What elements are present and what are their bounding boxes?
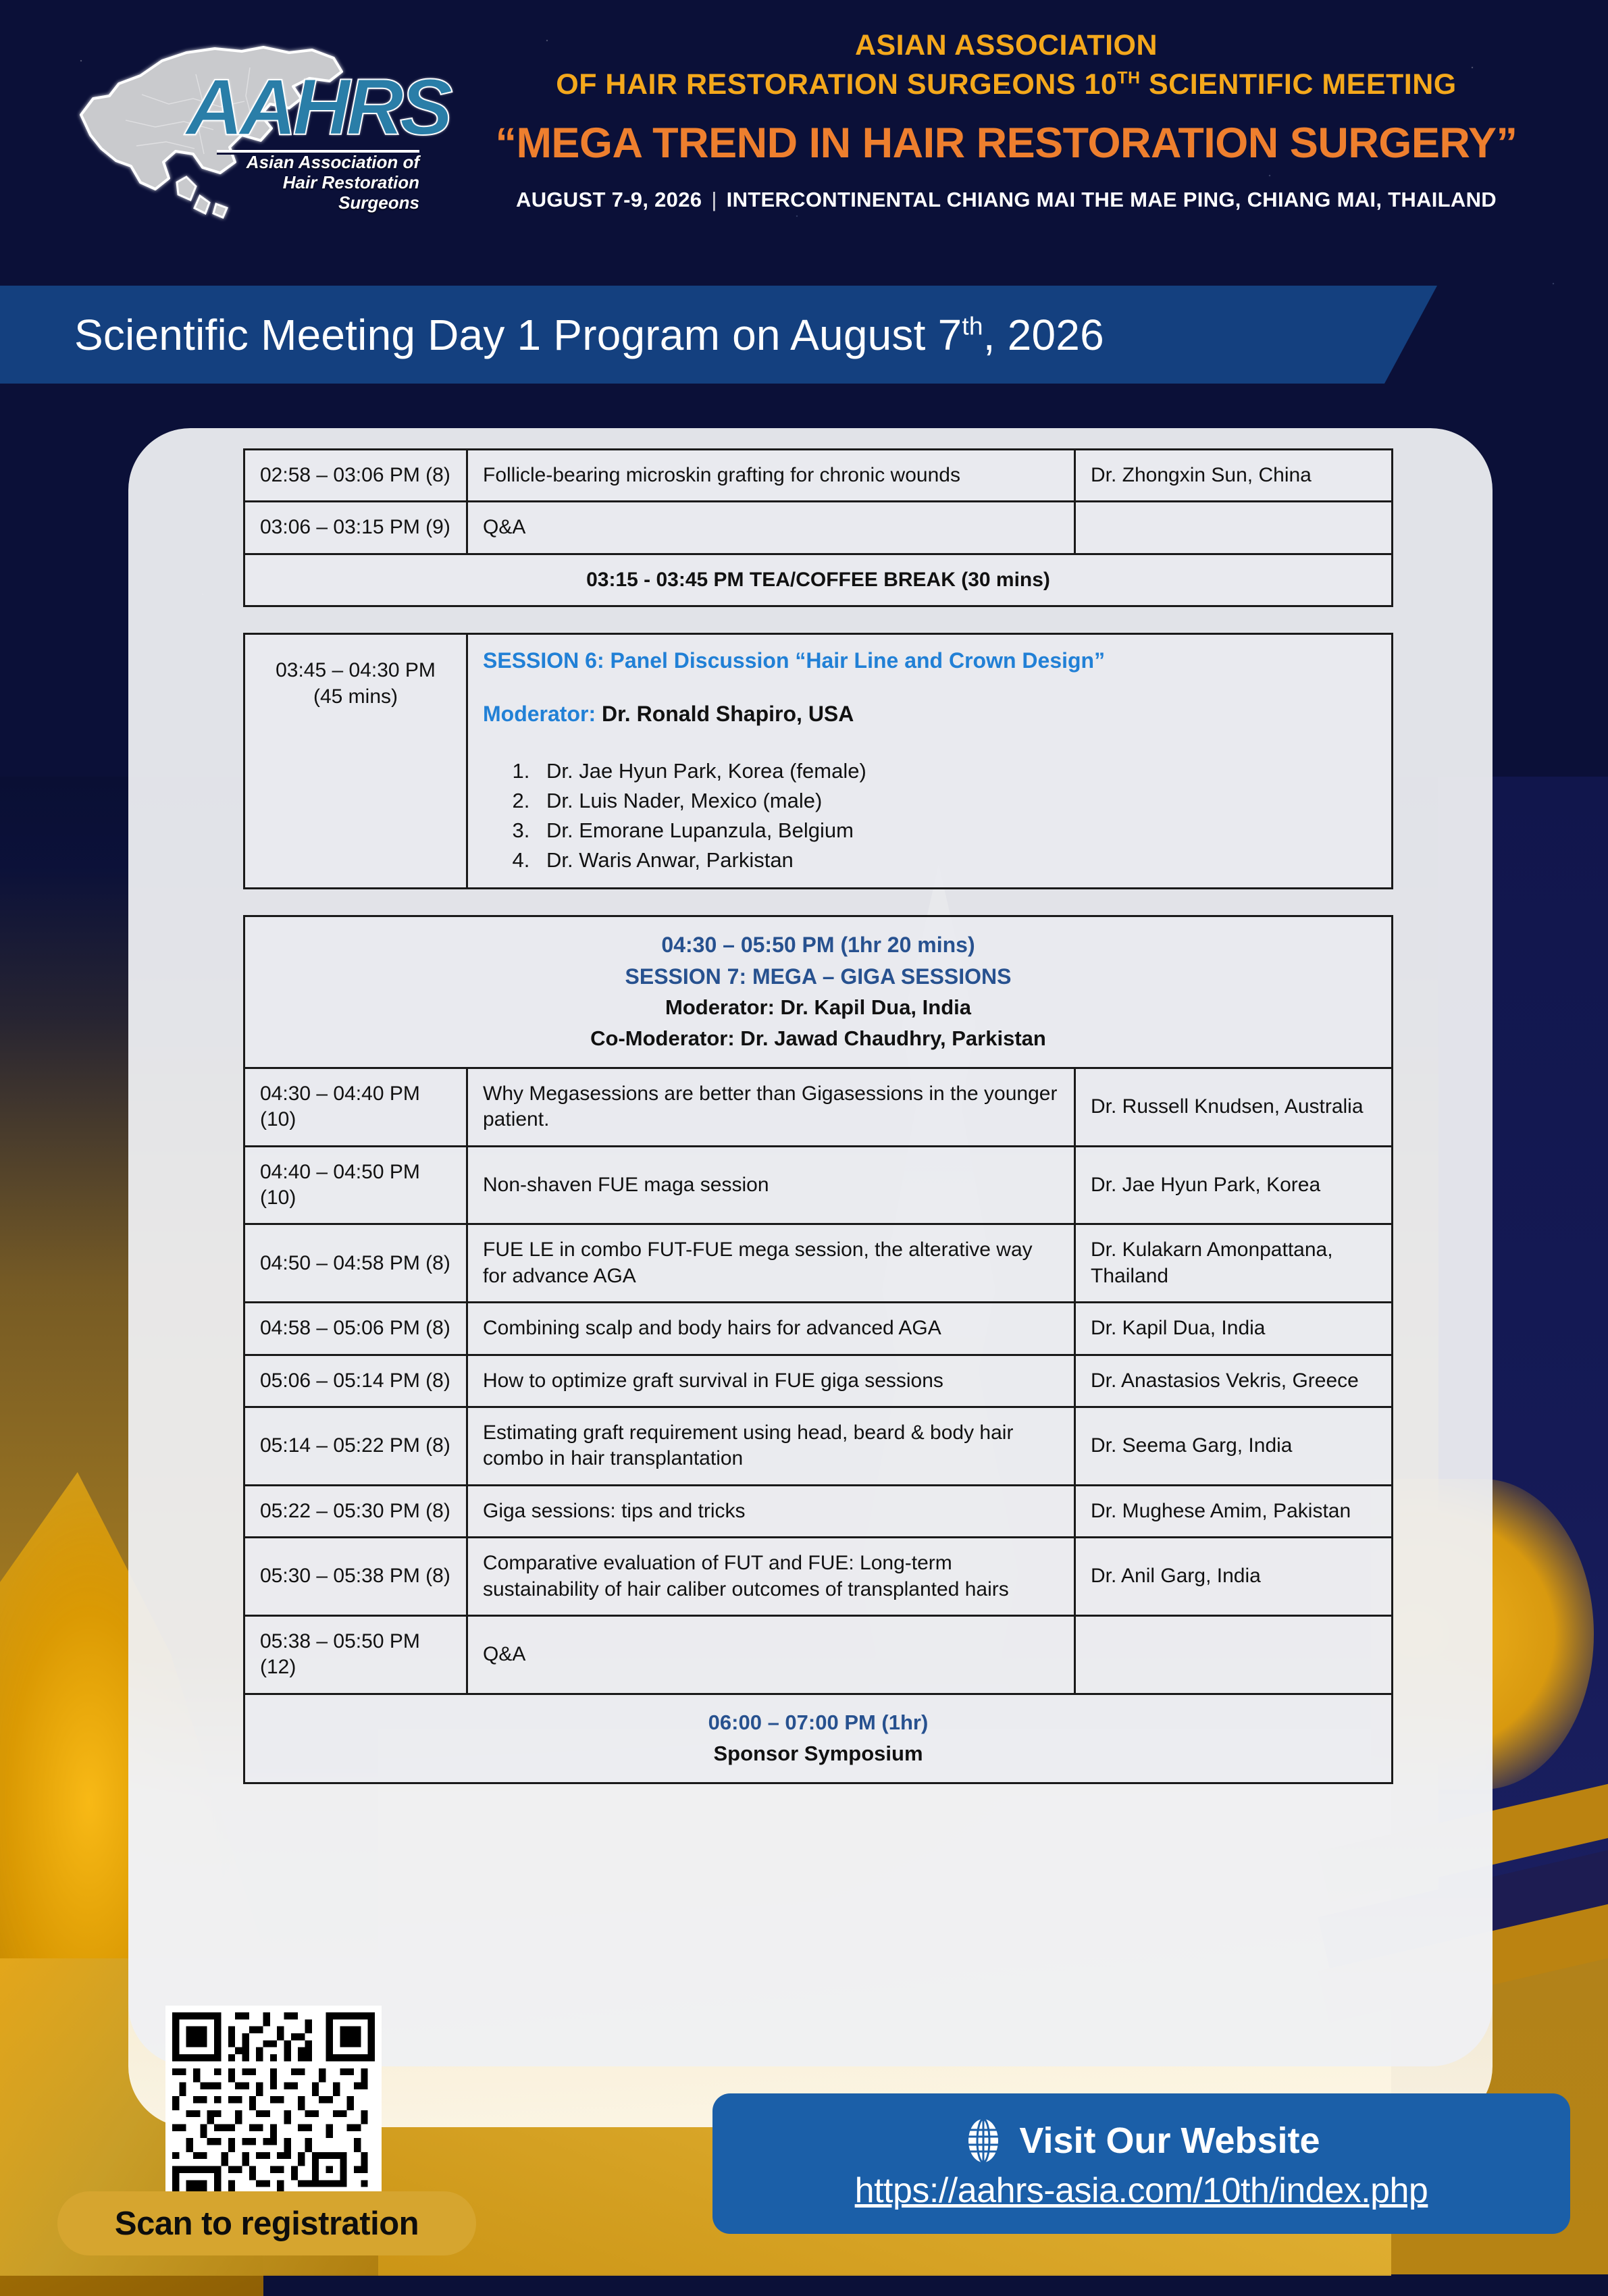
aahrs-logo: AAHRS Asian Association of Hair Restorat… — [47, 27, 425, 230]
table-row: 04:30 – 04:40 PM (10) Why Megasessions a… — [244, 1068, 1393, 1146]
scan-to-registration-button[interactable]: Scan to registration — [57, 2191, 476, 2255]
logo-subtitle-line2: Hair Restoration Surgeons — [217, 173, 419, 213]
row-time: 03:06 – 03:15 PM (9) — [244, 502, 467, 554]
table-row: 03:06 – 03:15 PM (9) Q&A — [244, 502, 1393, 554]
sponsor-name: Sponsor Symposium — [260, 1738, 1376, 1770]
session7-time: 04:30 – 05:50 PM (1hr 20 mins) — [260, 929, 1376, 960]
row-topic: Comparative evaluation of FUT and FUE: L… — [467, 1538, 1075, 1616]
row-topic: FUE LE in combo FUT-FUE mega session, th… — [467, 1224, 1075, 1303]
session6-title: SESSION 6: Panel Discussion “Hair Line a… — [483, 647, 1376, 675]
scan-to-registration-label: Scan to registration — [115, 2205, 419, 2243]
table-row: 04:40 – 04:50 PM (10) Non-shaven FUE mag… — [244, 1146, 1393, 1224]
banner-title-b: , 2026 — [983, 311, 1104, 359]
poster-header: AAHRS Asian Association of Hair Restorat… — [0, 0, 1608, 249]
session6-moderator-label: Moderator: — [483, 702, 596, 726]
table-row: 05:30 – 05:38 PM (8) Comparative evaluat… — [244, 1538, 1393, 1616]
row-speaker: Dr. Anastasios Vekris, Greece — [1075, 1355, 1393, 1407]
aahrs-wordmark-text: AAHRS — [186, 68, 422, 147]
row-topic: Q&A — [467, 1616, 1075, 1694]
day-program-banner: Scientific Meeting Day 1 Program on Augu… — [0, 286, 1437, 384]
session6-content: SESSION 6: Panel Discussion “Hair Line a… — [467, 634, 1393, 889]
row-time: 04:58 – 05:06 PM (8) — [244, 1303, 467, 1355]
session7-co-moderator: Co-Moderator: Dr. Jawad Chaudhry, Parkis… — [260, 1023, 1376, 1055]
banner-title-a: Scientific Meeting Day 1 Program on Augu… — [74, 311, 962, 359]
association-line-2-a: OF HAIR RESTORATION SURGEONS 10 — [556, 68, 1117, 101]
globe-icon — [962, 2116, 1004, 2165]
row-speaker — [1075, 1616, 1393, 1694]
visit-website-label: Visit Our Website — [1019, 2120, 1320, 2162]
row-time: 04:40 – 04:50 PM (10) — [244, 1146, 467, 1224]
session7-name: SESSION 7: MEGA – GIGA SESSIONS — [260, 961, 1376, 992]
session6-time-line1: 03:45 – 04:30 PM — [260, 658, 451, 683]
program-table-session7: 04:30 – 05:50 PM (1hr 20 mins) SESSION 7… — [243, 915, 1393, 1784]
sponsor-symposium: 06:00 – 07:00 PM (1hr) Sponsor Symposium — [244, 1694, 1393, 1783]
row-time: 04:30 – 04:40 PM (10) — [244, 1068, 467, 1146]
row-speaker: Dr. Anil Garg, India — [1075, 1538, 1393, 1616]
visit-website-box[interactable]: Visit Our Website https://aahrs-asia.com… — [712, 2093, 1570, 2234]
meeting-venue: INTERCONTINENTAL CHIANG MAI THE MAE PING… — [727, 188, 1497, 211]
table-row: 05:22 – 05:30 PM (8) Giga sessions: tips… — [244, 1485, 1393, 1537]
session6-moderator-name: Dr. Ronald Shapiro, USA — [602, 702, 854, 726]
row-speaker — [1075, 502, 1393, 554]
session6-row: 03:45 – 04:30 PM (45 mins) SESSION 6: Pa… — [244, 634, 1393, 889]
row-time: 04:50 – 04:58 PM (8) — [244, 1224, 467, 1303]
website-url-link[interactable]: https://aahrs-asia.com/10th/index.php — [855, 2170, 1428, 2211]
table-row: 05:06 – 05:14 PM (8) How to optimize gra… — [244, 1355, 1393, 1407]
program-content: 02:58 – 03:06 PM (8) Follicle-bearing mi… — [128, 428, 1493, 2066]
association-line-1: ASIAN ASSOCIATION — [432, 26, 1580, 65]
session6-panelist-list: Dr. Jae Hyun Park, Korea (female) Dr. Lu… — [536, 756, 1376, 875]
sponsor-time: 06:00 – 07:00 PM (1hr) — [260, 1707, 1376, 1739]
session7-moderator: Moderator: Dr. Kapil Dua, India — [260, 992, 1376, 1024]
association-line-2-b: SCIENTIFIC MEETING — [1141, 68, 1457, 101]
table-row: 04:50 – 04:58 PM (8) FUE LE in combo FUT… — [244, 1224, 1393, 1303]
row-topic: Follicle-bearing microskin grafting for … — [467, 450, 1075, 502]
registration-qr-block[interactable]: AAHRS — [165, 2006, 382, 2222]
table-row: 04:58 – 05:06 PM (8) Combining scalp and… — [244, 1303, 1393, 1355]
row-topic: Estimating graft requirement using head,… — [467, 1407, 1075, 1486]
session7-header-row: 04:30 – 05:50 PM (1hr 20 mins) SESSION 7… — [244, 916, 1393, 1068]
table-row: 02:58 – 03:06 PM (8) Follicle-bearing mi… — [244, 450, 1393, 502]
session6-moderator: Moderator: Dr. Ronald Shapiro, USA — [483, 700, 1376, 728]
row-topic: How to optimize graft survival in FUE gi… — [467, 1355, 1075, 1407]
list-item: Dr. Luis Nader, Mexico (male) — [536, 786, 1376, 816]
row-topic: Q&A — [467, 502, 1075, 554]
logo-subtitle-line1: Asian Association of — [217, 153, 419, 173]
header-text-block: ASIAN ASSOCIATION OF HAIR RESTORATION SU… — [432, 26, 1580, 212]
session6-time-line2: (45 mins) — [260, 684, 451, 710]
row-speaker: Dr. Zhongxin Sun, China — [1075, 450, 1393, 502]
dates-and-venue: AUGUST 7-9, 2026|INTERCONTINENTAL CHIANG… — [432, 188, 1580, 212]
row-speaker: Dr. Kulakarn Amonpattana, Thailand — [1075, 1224, 1393, 1303]
session7-header: 04:30 – 05:50 PM (1hr 20 mins) SESSION 7… — [244, 916, 1393, 1068]
table-row: 05:38 – 05:50 PM (12) Q&A — [244, 1616, 1393, 1694]
row-speaker: Dr. Seema Garg, India — [1075, 1407, 1393, 1486]
venue-separator: | — [702, 188, 726, 211]
tea-break-label: 03:15 - 03:45 PM TEA/COFFEE BREAK (30 mi… — [244, 554, 1393, 606]
tea-break-row: 03:15 - 03:45 PM TEA/COFFEE BREAK (30 mi… — [244, 554, 1393, 606]
sponsor-symposium-row: 06:00 – 07:00 PM (1hr) Sponsor Symposium — [244, 1694, 1393, 1783]
visit-website-row: Visit Our Website — [962, 2116, 1320, 2165]
table-row: 05:14 – 05:22 PM (8) Estimating graft re… — [244, 1407, 1393, 1486]
row-topic: Non-shaven FUE maga session — [467, 1146, 1075, 1224]
table-spacer — [128, 889, 1493, 915]
row-speaker: Dr. Jae Hyun Park, Korea — [1075, 1146, 1393, 1224]
row-topic: Giga sessions: tips and tricks — [467, 1485, 1075, 1537]
session6-time: 03:45 – 04:30 PM (45 mins) — [244, 634, 467, 889]
row-speaker: Dr. Russell Knudsen, Australia — [1075, 1068, 1393, 1146]
row-time: 05:22 – 05:30 PM (8) — [244, 1485, 467, 1537]
banner-title: Scientific Meeting Day 1 Program on Augu… — [0, 310, 1104, 360]
row-time: 05:14 – 05:22 PM (8) — [244, 1407, 467, 1486]
row-speaker: Dr. Kapil Dua, India — [1075, 1303, 1393, 1355]
list-item: Dr. Waris Anwar, Parkistan — [536, 845, 1376, 875]
program-table-session6: 03:45 – 04:30 PM (45 mins) SESSION 6: Pa… — [243, 633, 1393, 889]
banner-ordinal-suffix: th — [962, 311, 983, 340]
ordinal-suffix: TH — [1117, 69, 1140, 88]
aahrs-wordmark: AAHRS Asian Association of Hair Restorat… — [186, 68, 422, 203]
row-time: 05:06 – 05:14 PM (8) — [244, 1355, 467, 1407]
association-line-2: OF HAIR RESTORATION SURGEONS 10TH SCIENT… — [432, 65, 1580, 104]
table-spacer — [128, 607, 1493, 633]
row-time: 02:58 – 03:06 PM (8) — [244, 450, 467, 502]
row-speaker: Dr. Mughese Amim, Pakistan — [1075, 1485, 1393, 1537]
row-topic: Combining scalp and body hairs for advan… — [467, 1303, 1075, 1355]
row-time: 05:38 – 05:50 PM (12) — [244, 1616, 467, 1694]
row-time: 05:30 – 05:38 PM (8) — [244, 1538, 467, 1616]
program-table-top: 02:58 – 03:06 PM (8) Follicle-bearing mi… — [243, 448, 1393, 607]
list-item: Dr. Emorane Lupanzula, Belgium — [536, 816, 1376, 845]
list-item: Dr. Jae Hyun Park, Korea (female) — [536, 756, 1376, 786]
qr-code-icon: AAHRS — [172, 2012, 375, 2215]
meeting-theme-title: “MEGA TREND IN HAIR RESTORATION SURGERY” — [432, 119, 1580, 167]
row-topic: Why Megasessions are better than Gigases… — [467, 1068, 1075, 1146]
qr-code-image[interactable]: AAHRS — [165, 2006, 382, 2222]
meeting-dates: AUGUST 7-9, 2026 — [516, 188, 702, 211]
